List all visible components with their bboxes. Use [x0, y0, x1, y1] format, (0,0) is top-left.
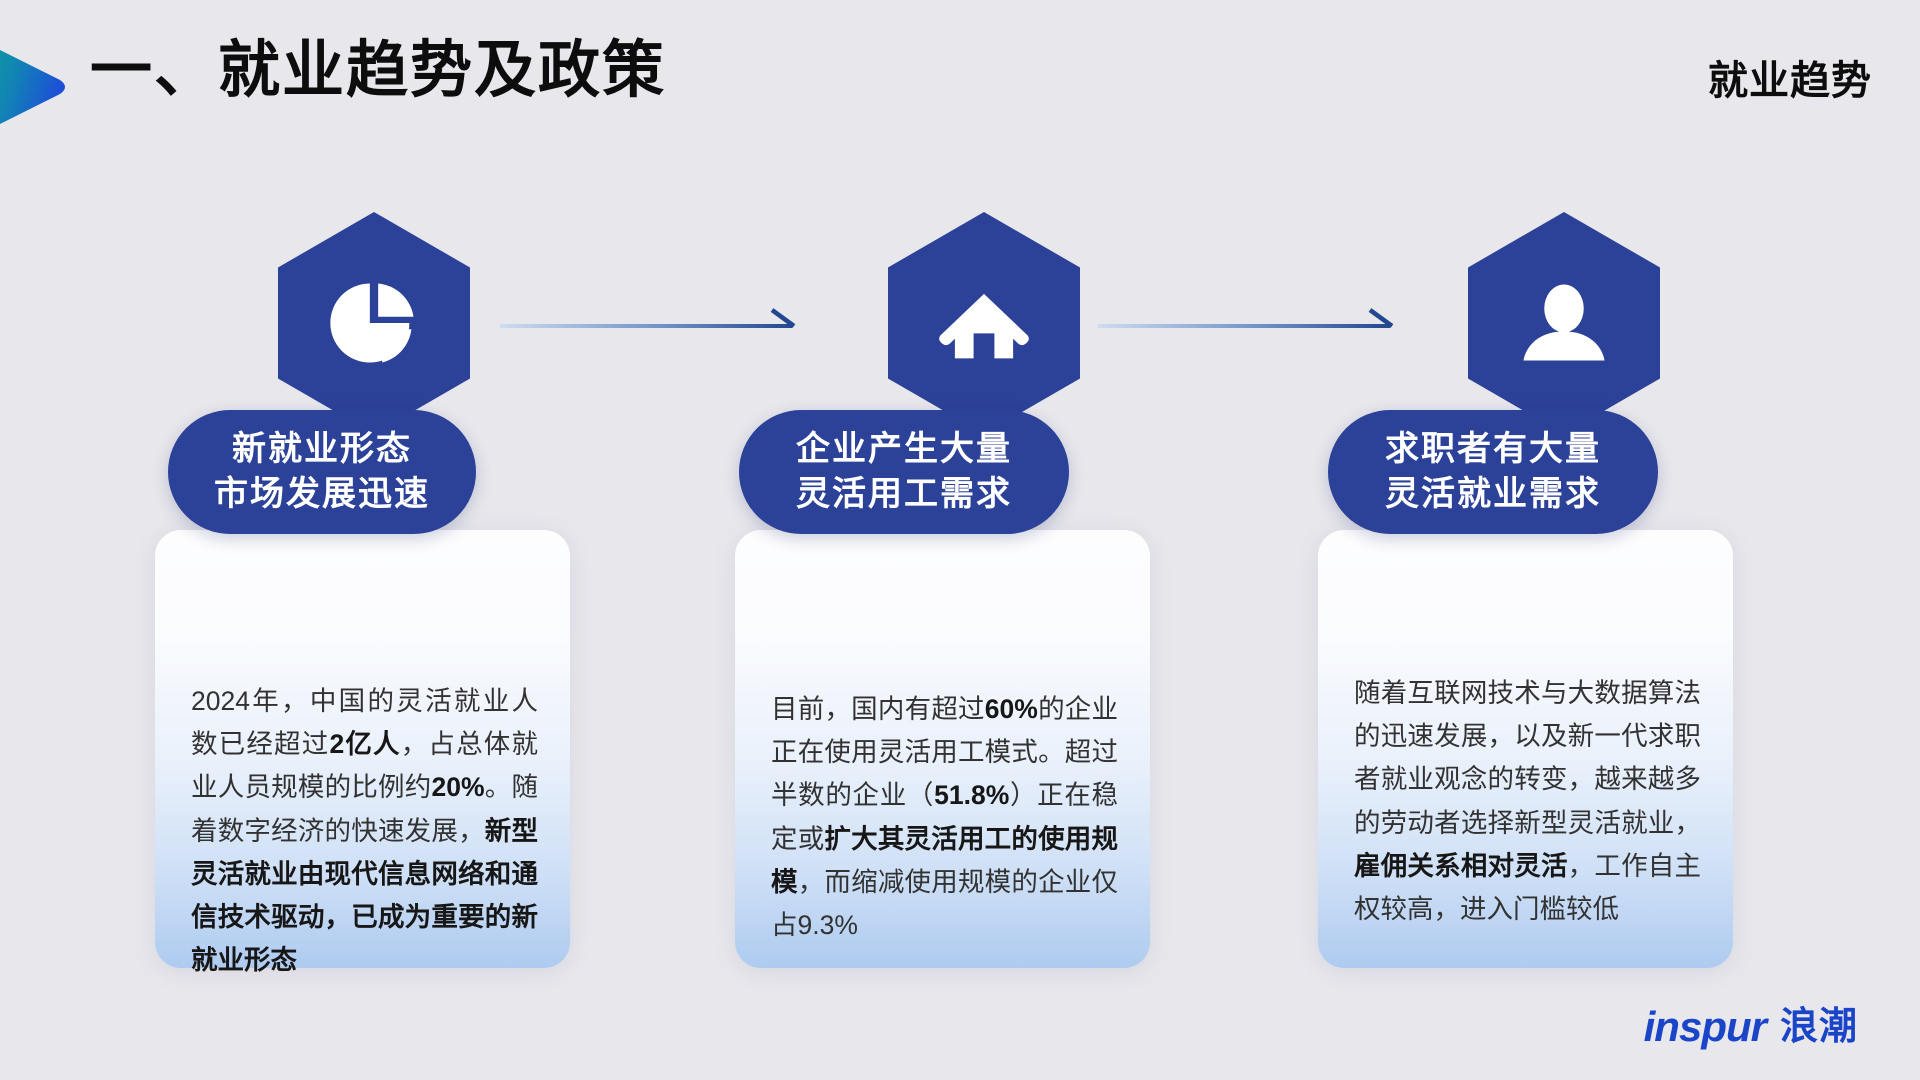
card-3-body: 随着互联网技术与大数据算法的迅速发展，以及新一代求职者就业观念的转变，越来越多的…	[1354, 672, 1701, 931]
slide: 一、就业趋势及政策 就业趋势	[0, 0, 1920, 1080]
info-card-3: 求职者有大量 灵活就业需求 随着互联网技术与大数据算法的迅速发展，以及新一代求职…	[1318, 530, 1733, 968]
info-card-1: 新就业形态 市场发展迅速 2024年，中国的灵活就业人数已经超过2亿人，占总体就…	[155, 530, 570, 968]
card-2-body: 目前，国内有超过60%的企业正在使用灵活用工模式。超过半数的企业（51.8%）正…	[771, 688, 1118, 947]
logo-wordmark: inspur	[1644, 1006, 1766, 1048]
house-icon	[932, 271, 1036, 375]
card-3-heading-line2: 灵活就业需求	[1385, 472, 1601, 517]
card-2-heading: 企业产生大量 灵活用工需求	[739, 410, 1069, 534]
card-1-heading: 新就业形态 市场发展迅速	[168, 410, 476, 534]
person-icon	[1512, 271, 1616, 375]
info-card-2: 企业产生大量 灵活用工需求 目前，国内有超过60%的企业正在使用灵活用工模式。超…	[735, 530, 1150, 968]
inspur-logo: inspur 浪潮	[1644, 1004, 1858, 1050]
card-3-heading-line1: 求职者有大量	[1385, 427, 1601, 472]
pie-chart-icon	[322, 271, 426, 375]
card-3-heading: 求职者有大量 灵活就业需求	[1328, 410, 1658, 534]
card-1-heading-line1: 新就业形态	[232, 427, 412, 472]
card-2-heading-line1: 企业产生大量	[796, 427, 1012, 472]
card-1-heading-line2: 市场发展迅速	[214, 472, 430, 517]
card-group: 新就业形态 市场发展迅速 2024年，中国的灵活就业人数已经超过2亿人，占总体就…	[0, 0, 1920, 1080]
card-1-body: 2024年，中国的灵活就业人数已经超过2亿人，占总体就业人员规模的比例约20%。…	[191, 680, 538, 982]
logo-chinese-name: 浪潮	[1780, 1008, 1858, 1046]
card-2-heading-line2: 灵活用工需求	[796, 472, 1012, 517]
